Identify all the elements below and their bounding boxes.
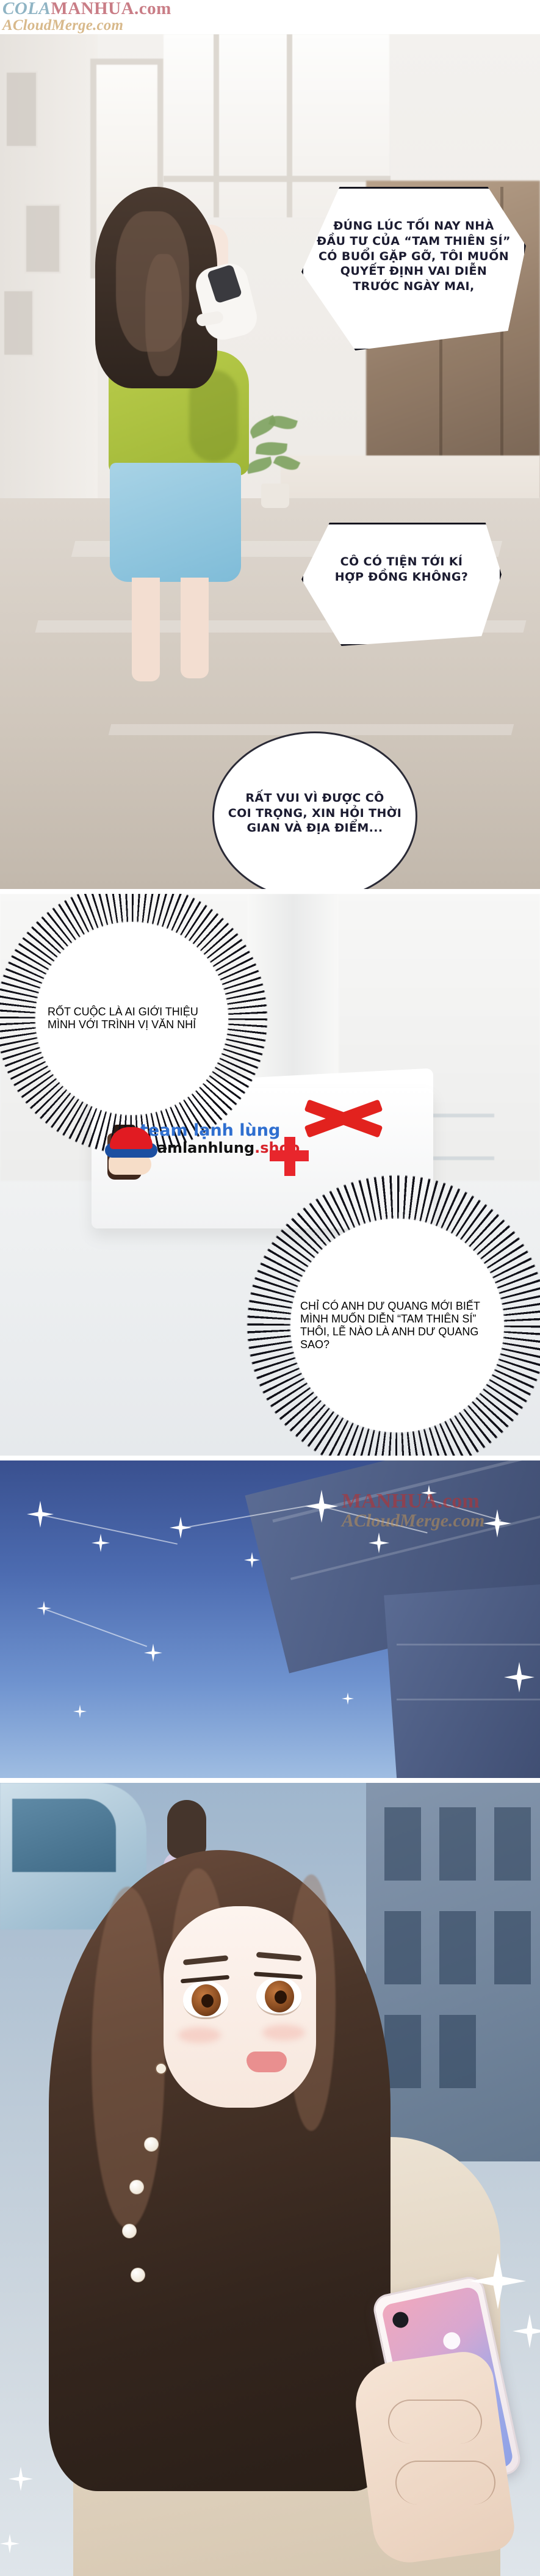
- sparkle-star: [342, 1693, 354, 1705]
- watermark-team-line1: team lạnh lùng: [140, 1122, 300, 1139]
- panel-office-hallway: ĐÚNG LÚC TỐI NAY NHÀ ĐẦU TƯ CỦA “TAM THI…: [0, 34, 540, 889]
- speech-bubble-3-text: RẤT VUI VÌ ĐƯỢC CÔ COI TRỌNG, XIN HỎI TH…: [220, 791, 411, 842]
- girl-eye-left: [183, 1981, 228, 2019]
- main-character-closeup: [0, 1850, 540, 2576]
- character-woman-on-phone: [37, 187, 244, 504]
- speech-bubble-2: CÔ CÓ TIỆN TỚI KÍ HỢP ĐỒNG KHÔNG?: [301, 523, 502, 646]
- speech-bubble-4: RỐT CUỘC LÀ AI GIỚI THIỆU MÌNH VỚI TRÌNH…: [22, 909, 242, 1128]
- finger-line: [388, 2400, 482, 2444]
- constellation-line: [40, 1514, 178, 1545]
- watermark-merge-text: Merge: [51, 17, 93, 34]
- speech-bubble-5-text: CHỈ CÓ ANH DƯ QUANG MỚI BIẾT MÌNH MUỐN D…: [276, 1300, 519, 1351]
- santa-hat-mascot-icon: [105, 1127, 157, 1163]
- girl-hand: [350, 2348, 517, 2567]
- watermark-top-line2: ACloudMerge.com: [2, 18, 171, 33]
- facade-line: [397, 1699, 540, 1700]
- wall-picture-frame: [2, 289, 34, 357]
- potted-plant: [245, 416, 304, 508]
- girl-eye-right: [256, 1977, 301, 2015]
- watermark-top: COLAMANHUA.com ACloudMerge.com: [2, 0, 171, 33]
- watermark-team-lanh-lung: team lạnh lùng teamlanhlung.shop: [140, 1122, 300, 1155]
- girl-iris: [192, 1984, 221, 2016]
- pearl-accessory: [131, 2268, 145, 2282]
- sparkle-star: [92, 1534, 110, 1552]
- sparkle-star: [513, 2314, 540, 2348]
- plant-pot: [261, 484, 289, 508]
- wall-picture-frame: [5, 71, 38, 148]
- sparkle-star: [73, 1705, 87, 1718]
- pearl-accessory: [122, 2224, 137, 2238]
- watermark-manhua-text: MANHUA: [51, 0, 134, 18]
- facade-line: [397, 1644, 540, 1645]
- sparkle-star: [0, 2534, 20, 2553]
- watermark-cola-text: COLA: [2, 0, 51, 18]
- pearl-accessory: [129, 2180, 144, 2194]
- watermark-merge-suffix: .com: [93, 17, 123, 34]
- girl-earring: [156, 2064, 166, 2073]
- watermark-top-line1: COLAMANHUA.com: [2, 0, 171, 18]
- watermark-team-domain: teamlanhlung: [140, 1139, 254, 1156]
- watermark-acloud-text: ACloud: [2, 17, 51, 34]
- speech-bubble-5: CHỈ CÓ ANH DƯ QUANG MỚI BIẾT MÌNH MUỐN D…: [276, 1204, 519, 1447]
- girl-pupil: [275, 1990, 287, 2004]
- speech-bubble-4-text: RỐT CUỘC LÀ AI GIỚI THIỆU MÌNH VỚI TRÌNH…: [22, 1006, 242, 1031]
- phone-screen-dot: [442, 2331, 462, 2351]
- girl-mouth: [247, 2052, 287, 2072]
- woman-blue-skirt: [110, 463, 241, 582]
- girl-iris: [265, 1981, 294, 2012]
- speech-bubble-1-text: ĐÚNG LÚC TỐI NAY NHÀ ĐẦU TƯ CỦA “TAM THI…: [304, 215, 523, 322]
- webtoon-page: COLAMANHUA.com ACloudMerge.com: [0, 0, 540, 2576]
- sparkle-star: [9, 2467, 33, 2491]
- panel-closeup-girl: [0, 1783, 540, 2576]
- panel-night-sky-building: [0, 1460, 540, 1778]
- window-mullion: [287, 34, 292, 217]
- sparkle-star: [244, 1552, 260, 1568]
- speech-bubble-1: ĐÚNG LÚC TỐI NAY NHÀ ĐẦU TƯ CỦA “TAM THI…: [301, 187, 526, 350]
- speech-bubble-2-text: CÔ CÓ TIỆN TỚI KÍ HỢP ĐỒNG KHÔNG?: [324, 554, 480, 614]
- watermark-manhua-suffix: .com: [134, 0, 171, 18]
- window-mullion: [164, 176, 391, 182]
- red-cross-icon: [270, 1137, 309, 1176]
- girl-pupil: [201, 1994, 214, 2008]
- building-facade: [384, 1583, 540, 1778]
- finger-line: [395, 2461, 495, 2505]
- woman-leg: [181, 578, 209, 678]
- constellation-line: [43, 1608, 147, 1647]
- woman-leg: [132, 578, 160, 681]
- pearl-accessory: [144, 2137, 159, 2152]
